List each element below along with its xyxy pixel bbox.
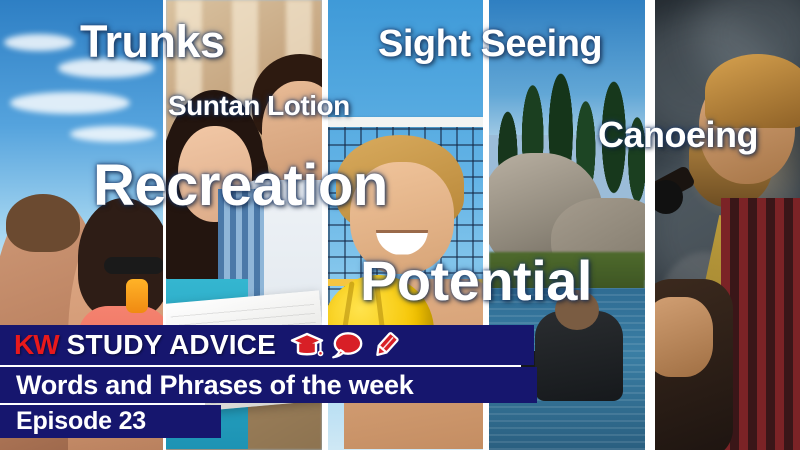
overlay-word-trunks: Trunks: [80, 19, 225, 64]
overlay-word-potential: Potential: [360, 253, 592, 309]
episode-text: Episode 23: [16, 407, 146, 436]
concert-photo: [655, 0, 800, 450]
subtitle-banner: Words and Phrases of the week: [0, 367, 537, 403]
overlay-word-canoeing: Canoeing: [598, 117, 758, 153]
overlay-word-recreation: Recreation: [93, 157, 388, 215]
brand-initials: KW: [14, 329, 59, 361]
graduation-cap-icon: [290, 332, 324, 359]
episode-banner: Episode 23: [0, 405, 221, 438]
panel-concert-guitar: [655, 0, 800, 450]
video-thumbnail: Trunks Suntan Lotion Sight Seeing Canoei…: [0, 0, 800, 450]
pencil-icon: [370, 331, 401, 360]
brand-banner: KW STUDY ADVICE: [0, 325, 534, 365]
overlay-word-suntan-lotion: Suntan Lotion: [168, 92, 350, 120]
brand-icon-group: [290, 331, 401, 360]
overlay-word-sight-seeing: Sight Seeing: [378, 25, 602, 63]
subtitle-text: Words and Phrases of the week: [16, 370, 413, 401]
brand-name: STUDY ADVICE: [67, 329, 276, 361]
speech-bubble-icon: [331, 331, 363, 359]
panel-divider: [645, 0, 655, 450]
